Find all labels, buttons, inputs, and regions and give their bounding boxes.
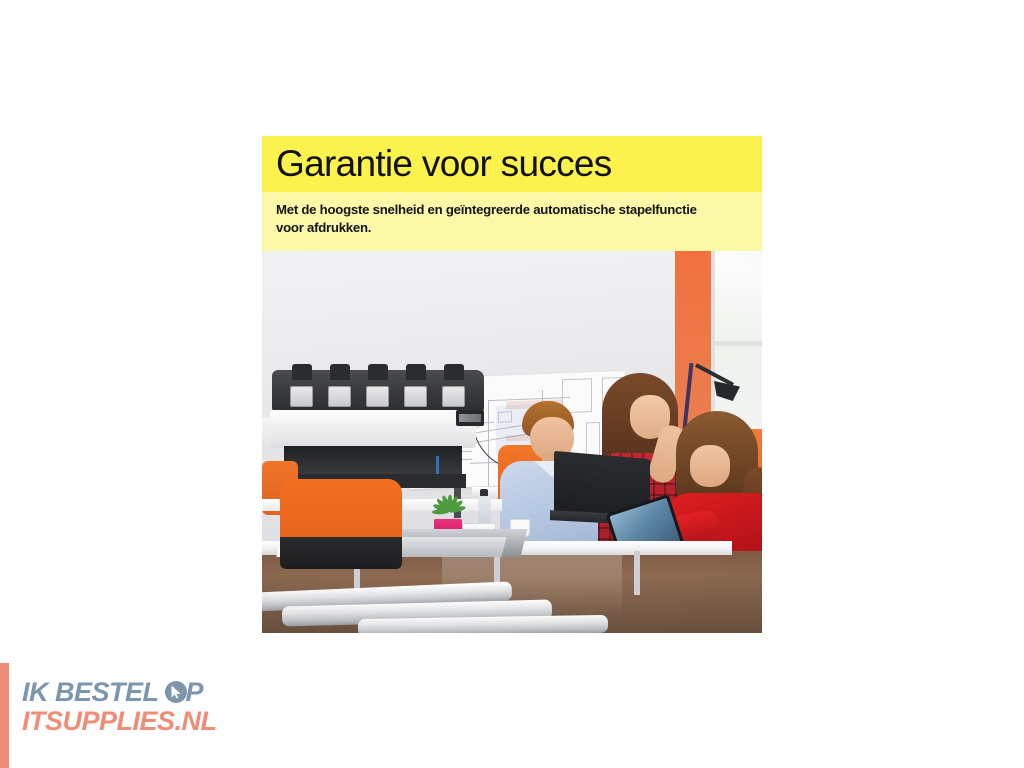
product-photo (262, 251, 762, 633)
desk-leg (634, 551, 640, 595)
page-root: Garantie voor succes Met de hoogste snel… (0, 0, 1024, 768)
product-banner-card: Garantie voor succes Met de hoogste snel… (262, 136, 762, 633)
brand-logo-line-2: ITSUPPLIES.NL (22, 707, 252, 735)
subtitle-text: Met de hoogste snelheid en geïntegreerde… (276, 201, 701, 236)
cursor-arrow-icon (165, 681, 187, 703)
foreground-office-chair (280, 479, 402, 569)
page-title: Garantie voor succes (276, 140, 612, 188)
rolled-blueprint (358, 615, 608, 633)
brand-logo[interactable]: IK BESTEL OP ITSUPPLIES.NL (22, 679, 252, 735)
brand-logo-line-1: IK BESTEL OP (22, 679, 252, 706)
brand-accent-bar (0, 663, 9, 768)
headline-band: Garantie voor succes (262, 136, 762, 192)
subhead-band: Met de hoogste snelheid en geïntegreerde… (262, 192, 762, 251)
